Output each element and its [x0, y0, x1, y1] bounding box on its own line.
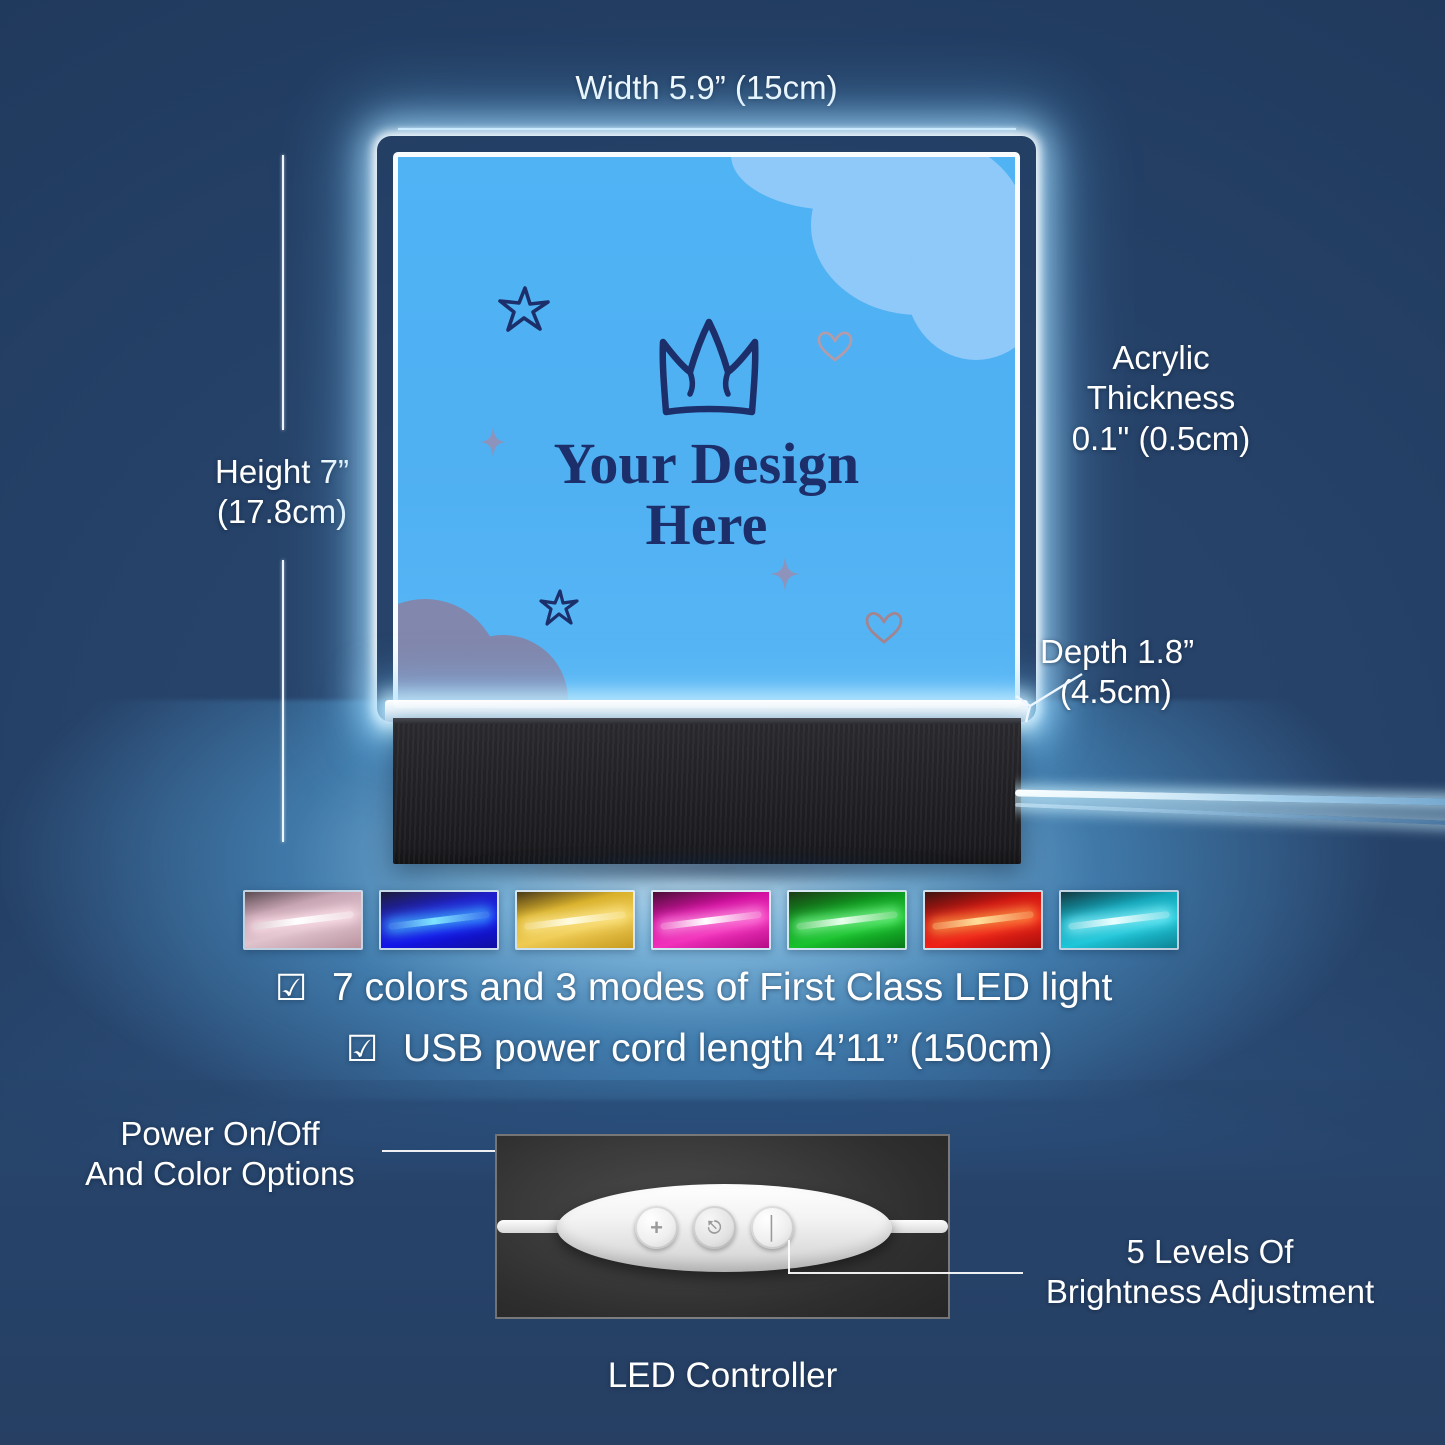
brightness-callout-leader-rise	[788, 1240, 790, 1274]
height-dimension-text-2: (17.8cm)	[172, 492, 392, 532]
swatch-yellow[interactable]	[515, 890, 635, 950]
brightness-callout-leader	[788, 1272, 1023, 1274]
power-callout-label: Power On/Off And Color Options	[60, 1114, 380, 1195]
swatch-pink[interactable]	[243, 890, 363, 950]
infographic-canvas: Width 5.9” (15cm) Height 7” (17.8cm)	[0, 0, 1445, 1445]
base-cast-shadow	[363, 852, 1063, 892]
design-placeholder-text: Your Design Here	[398, 433, 1015, 556]
swatch-blue[interactable]	[379, 890, 499, 950]
acrylic-thickness-label: Acrylic Thickness 0.1" (0.5cm)	[1016, 338, 1306, 459]
depth-leader-line	[1008, 672, 1088, 728]
power-callout-text-2: And Color Options	[60, 1154, 380, 1194]
usb-power-cord	[1015, 768, 1445, 848]
feature-item-cord: ☑ USB power cord length 4’11” (150cm)	[346, 1027, 1053, 1071]
swatch-magenta[interactable]	[651, 890, 771, 950]
width-dimension-text: Width 5.9” (15cm)	[575, 69, 837, 106]
sparkle-icon-2	[770, 557, 800, 591]
wooden-base-top-face	[393, 718, 1021, 724]
led-color-swatch-strip	[243, 890, 1179, 950]
swatch-red[interactable]	[923, 890, 1043, 950]
led-controller-photo: + ⎋ │	[495, 1134, 950, 1319]
star-outline-icon-small	[538, 587, 580, 629]
heart-outline-icon-2	[864, 609, 904, 647]
checkbox-checked-icon-2: ☑	[346, 1029, 378, 1069]
depth-text-1: Depth 1.8”	[1040, 632, 1290, 672]
acrylic-panel: Your Design Here	[393, 152, 1020, 708]
feature-item-colors: ☑ 7 colors and 3 modes of First Class LE…	[275, 966, 1112, 1010]
height-dimension-line-bottom	[282, 560, 284, 842]
width-dimension-label: Width 5.9” (15cm)	[393, 68, 1020, 108]
thickness-text-3: 0.1" (0.5cm)	[1016, 419, 1306, 459]
feature-text-cord: USB power cord length 4’11” (150cm)	[403, 1027, 1053, 1070]
controller-caption: LED Controller	[0, 1356, 1445, 1396]
crown-doodle-icon	[646, 312, 772, 427]
brightness-callout-label: 5 Levels Of Brightness Adjustment	[1000, 1232, 1420, 1313]
height-dimension-label: Height 7” (17.8cm)	[172, 452, 392, 533]
acrylic-artwork-area: Your Design Here	[398, 157, 1015, 703]
width-dimension-line	[398, 128, 1016, 130]
swatch-cyan[interactable]	[1059, 890, 1179, 950]
power-icon: ⎋	[708, 1218, 721, 1238]
usb-cord-strand-1	[1015, 789, 1445, 805]
brightness-callout-text-1: 5 Levels Of	[1000, 1232, 1420, 1272]
swatch-green[interactable]	[787, 890, 907, 950]
brightness-up-button[interactable]: +	[635, 1206, 678, 1249]
power-color-button[interactable]: ⎋	[693, 1206, 736, 1249]
controller-caption-text: LED Controller	[608, 1356, 838, 1395]
thickness-text-1: Acrylic	[1016, 338, 1306, 378]
plus-icon: +	[650, 1215, 663, 1241]
design-text-line2: Here	[398, 494, 1015, 555]
thickness-text-2: Thickness	[1016, 378, 1306, 418]
feature-text-colors: 7 colors and 3 modes of First Class LED …	[332, 966, 1112, 1009]
power-callout-text-1: Power On/Off	[60, 1114, 380, 1154]
minus-icon: │	[766, 1215, 780, 1241]
brightness-callout-text-2: Brightness Adjustment	[1000, 1272, 1420, 1312]
usb-cord-strand-2	[1015, 803, 1445, 825]
star-outline-icon	[496, 282, 552, 338]
height-dimension-text-1: Height 7”	[172, 452, 392, 492]
acrylic-led-lamp: Your Design Here	[393, 152, 1020, 864]
heart-outline-icon	[816, 329, 854, 365]
design-text-line1: Your Design	[398, 433, 1015, 494]
wooden-base	[393, 718, 1021, 864]
checkbox-checked-icon: ☑	[275, 968, 307, 1008]
height-dimension-line-top	[282, 155, 284, 430]
